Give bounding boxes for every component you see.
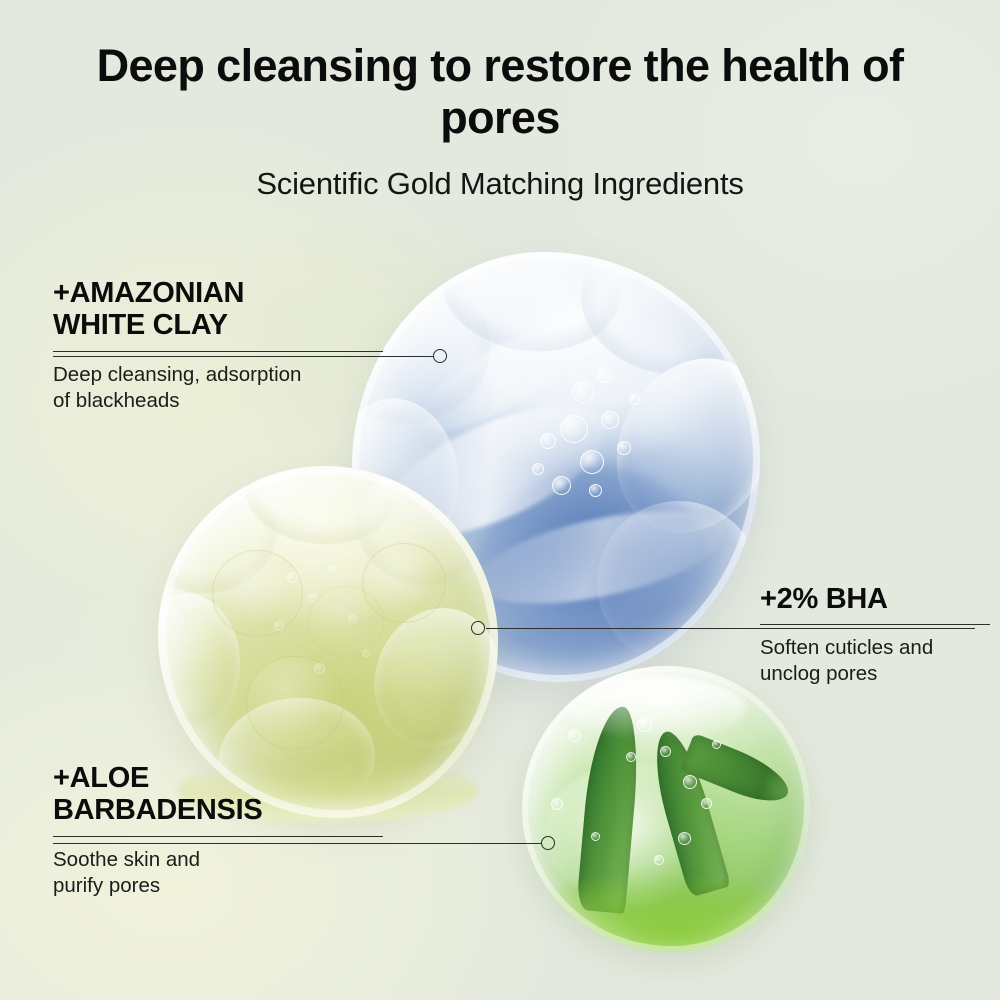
callout-rule bbox=[760, 624, 990, 625]
callout-description: Soothe skin and purify pores bbox=[53, 847, 383, 899]
callout-title: +2% BHA bbox=[760, 583, 990, 615]
callout-rule bbox=[53, 836, 383, 837]
callout-title: +AMAZONIAN WHITE CLAY bbox=[53, 277, 383, 342]
callout-description: Soften cuticles and unclog pores bbox=[760, 635, 990, 687]
page-subtitle: Scientific Gold Matching Ingredients bbox=[0, 166, 1000, 202]
callout-rule bbox=[53, 351, 383, 352]
aloe-sphere bbox=[522, 666, 810, 952]
aloe-sphere-rim bbox=[522, 666, 810, 952]
callout-description: Deep cleansing, adsorption of blackheads bbox=[53, 362, 383, 414]
aloe-sphere-body bbox=[522, 666, 810, 952]
aloe-leaf-icon bbox=[644, 726, 731, 897]
clay-sphere-body bbox=[352, 252, 760, 682]
marker-dot-aloe-barbadensis bbox=[541, 836, 555, 850]
clay-sphere-lobes bbox=[352, 252, 760, 682]
marker-dot-bha bbox=[471, 621, 485, 635]
leader-line-aloe-barbadensis bbox=[53, 843, 542, 844]
marker-dot-amazonian-white-clay bbox=[433, 349, 447, 363]
clay-sphere-rim bbox=[352, 252, 760, 682]
leader-line-bha bbox=[486, 628, 975, 629]
callout-aloe-barbadensis: +ALOE BARBADENSIS Soothe skin and purify… bbox=[53, 762, 383, 899]
callout-title: +ALOE BARBADENSIS bbox=[53, 762, 383, 827]
page-title: Deep cleansing to restore the health of … bbox=[0, 40, 1000, 144]
aloe-leaf-icon bbox=[680, 733, 796, 811]
white-clay-sphere bbox=[352, 252, 760, 682]
aloe-leaf-icon bbox=[576, 704, 643, 913]
leader-line-amazonian-white-clay bbox=[53, 356, 434, 357]
aloe-sphere-contents bbox=[522, 666, 810, 952]
callout-bha: +2% BHA Soften cuticles and unclog pores bbox=[760, 583, 990, 687]
ingredient-infographic: Deep cleansing to restore the health of … bbox=[0, 0, 1000, 1000]
callout-amazonian-white-clay: +AMAZONIAN WHITE CLAY Deep cleansing, ad… bbox=[53, 277, 383, 414]
